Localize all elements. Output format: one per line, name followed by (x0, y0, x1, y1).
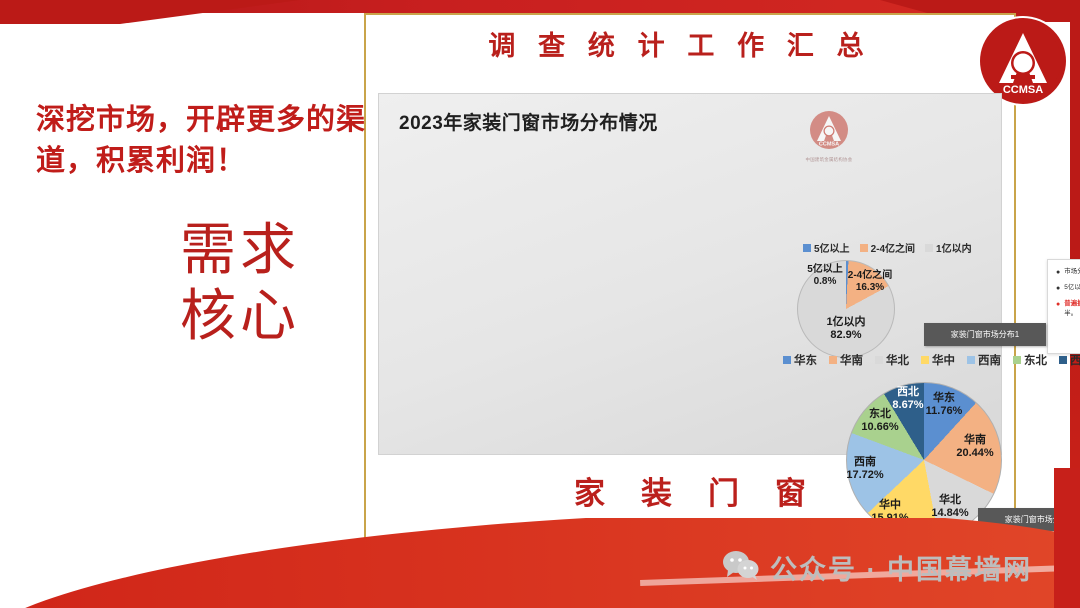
legend-item: 华东 (783, 352, 817, 368)
callout-market-distribution-1[interactable]: 家装门窗市场分布1 (924, 323, 1046, 346)
pie1-label-2to4yi: 2-4亿之间 16.3% (834, 270, 906, 294)
slice-name: 1亿以内 (826, 316, 865, 328)
pie1-label-1yi: 1亿以内 82.9% (813, 316, 879, 342)
slice-name: 2-4亿之间 (848, 270, 892, 281)
insight-text-red: 普遍拥有多个品牌，针对市场受众定价、定位。 (1064, 300, 1080, 307)
legend-label: 华中 (932, 352, 955, 368)
legend-item: 华北 (875, 352, 909, 368)
legend-item: 西北 (1059, 352, 1080, 368)
bullet-dot-icon: ● (1056, 267, 1060, 278)
insight-bullet: ● 5亿以上的企业占比少，不到20家；1亿以内的中小企业占比达到80%。 (1056, 283, 1080, 294)
legend-label: 东北 (1024, 352, 1047, 368)
ccmsa-logo-mark: CCMSA (983, 21, 1063, 101)
legend-label: 1亿以内 (936, 240, 972, 255)
legend-label: 华南 (840, 352, 863, 368)
legend-item: 东北 (1013, 352, 1047, 368)
slice-value: 82.9% (830, 329, 861, 341)
slice-name: 华南 (964, 434, 986, 446)
legend-label: 2-4亿之间 (871, 240, 915, 255)
legend-label: 5亿以上 (814, 240, 850, 255)
slice-value: 0.8% (814, 276, 837, 287)
insight-bullet-highlighted: ● 普遍拥有多个品牌，针对市场受众定价、定位。“纯家装”的企业占比，与即做工程，… (1056, 299, 1080, 319)
legend-label: 华东 (794, 352, 817, 368)
bottom-right-red-block (1054, 468, 1080, 608)
legend-item: 西南 (967, 352, 1001, 368)
legend-swatch (803, 244, 811, 252)
legend-label: 华北 (886, 352, 909, 368)
wechat-icon (722, 550, 760, 585)
slice-value: 10.66% (861, 421, 898, 433)
ccmsa-watermark-icon: CCMSA 中国建筑金属结构协会 (802, 110, 856, 163)
legend-swatch (1059, 356, 1067, 364)
legend-swatch (967, 356, 975, 364)
ccmsa-logo: CCMSA (980, 18, 1066, 104)
chart-panel: 2023年家装门窗市场分布情况 CCMSA 中国建筑金属结构协会 5亿以上 2-… (378, 93, 1002, 455)
legend-market-size: 5亿以上 2-4亿之间 1亿以内 (803, 240, 972, 255)
legend-swatch (921, 356, 929, 364)
legend-swatch (783, 356, 791, 364)
insight-bullet: ● 市场分布情况与所在地区的家装门窗企业数量成正比。华南以佛山、西南以成都为主力… (1056, 267, 1080, 278)
legend-swatch (860, 244, 868, 252)
insight-text-mixed: 普遍拥有多个品牌，针对市场受众定价、定位。“纯家装”的企业占比，与即做工程，又做… (1064, 299, 1080, 319)
legend-regions: 华东 华南 华北 华中 西南 东北 西北 (783, 352, 1080, 368)
legend-item: 2-4亿之间 (860, 240, 915, 255)
slice-value: 8.67% (892, 399, 923, 411)
slice-value: 16.3% (856, 282, 884, 293)
left-keyword-block: 需求 核心 (120, 218, 360, 350)
slide-root: 调 查 统 计 工 作 汇 总 CCMSA 深挖市场，开辟更多的渠道，积累利润！… (0, 0, 1080, 608)
svg-text:CCMSA: CCMSA (819, 142, 839, 148)
bullet-dot-icon: ● (1056, 283, 1060, 294)
slice-name: 西南 (854, 456, 876, 468)
legend-label: 西南 (978, 352, 1001, 368)
legend-swatch (1013, 356, 1021, 364)
panel-title: 2023年家装门窗市场分布情况 (399, 108, 658, 135)
insight-text: 5亿以上的企业占比少，不到20家；1亿以内的中小企业占比达到80%。 (1064, 283, 1080, 294)
pie2-label-huanan: 华南 20.44% (945, 434, 1005, 460)
footer-wechat: 公众号 · 中国幕墙网 (722, 548, 1032, 587)
pie2-label-xibei: 西北 8.67% (879, 386, 937, 412)
insights-box: ● 市场分布情况与所在地区的家装门窗企业数量成正比。华南以佛山、西南以成都为主力… (1047, 259, 1080, 354)
legend-item: 1亿以内 (925, 240, 972, 255)
legend-label: 西北 (1070, 352, 1080, 368)
legend-item: 华中 (921, 352, 955, 368)
legend-swatch (925, 244, 933, 252)
svg-text:CCMSA: CCMSA (1003, 84, 1043, 96)
insight-text: 市场分布情况与所在地区的家装门窗企业数量成正比。华南以佛山、西南以成都为主力。 (1064, 267, 1080, 278)
slice-name: 西北 (897, 386, 919, 398)
legend-swatch (829, 356, 837, 364)
legend-item: 华南 (829, 352, 863, 368)
slice-value: 20.44% (956, 447, 993, 459)
left-headline: 深挖市场，开辟更多的渠道，积累利润！ (36, 100, 366, 182)
bullet-dot-icon: ● (1056, 299, 1060, 319)
left-keyword-core: 核心 (120, 284, 360, 350)
left-keyword-demand: 需求 (120, 218, 360, 284)
wechat-label: 公众号 · 中国幕墙网 (770, 548, 1032, 587)
legend-item: 5亿以上 (803, 240, 850, 255)
bottom-keyword-home-doors-windows: 家装门窗 (378, 468, 1002, 513)
legend-swatch (875, 356, 883, 364)
page-title: 调 查 统 计 工 作 汇 总 (380, 24, 980, 63)
watermark-caption: 中国建筑金属结构协会 (802, 157, 856, 163)
